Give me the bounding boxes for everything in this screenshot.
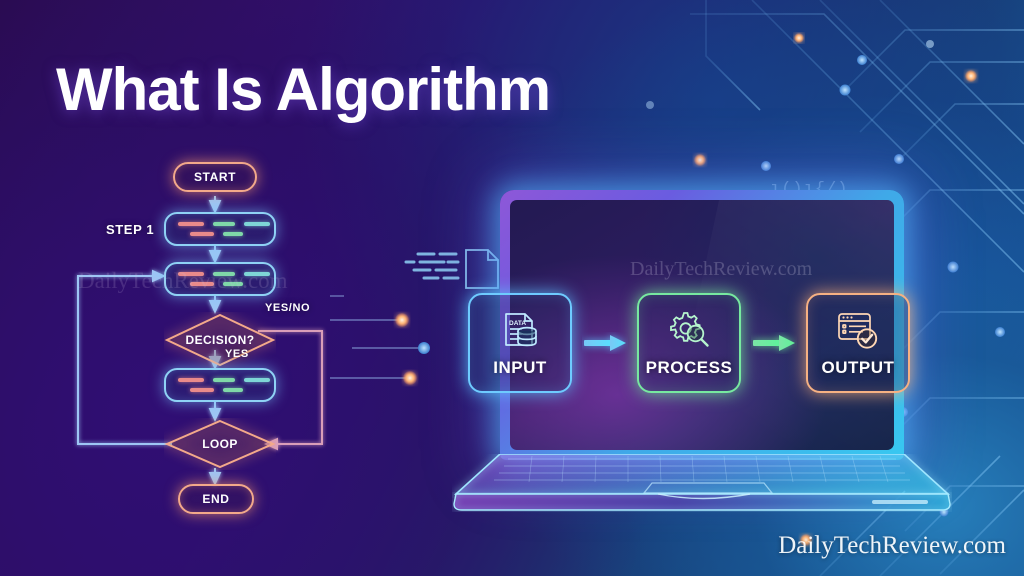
pipeline-card-process[interactable]: PROCESS <box>637 293 741 393</box>
data-icon-text: DATA <box>509 320 526 327</box>
gear-magnifier-icon <box>667 308 711 354</box>
flow-node-process-2[interactable] <box>164 262 276 296</box>
checklist-window-check-icon <box>835 308 881 354</box>
code-lines <box>166 272 274 286</box>
poster-canvas: What Is Algorithm <box>0 0 1024 576</box>
arrow-right-icon <box>582 332 628 354</box>
page-title: What Is Algorithm <box>56 60 550 120</box>
watermark-screen: DailyTechReview.com <box>630 258 812 281</box>
flow-node-decision[interactable]: DECISION? <box>164 312 276 368</box>
code-lines <box>166 222 274 236</box>
arrow-right-icon <box>751 332 797 354</box>
flow-node-end[interactable]: END <box>178 484 254 514</box>
pipeline-card-input[interactable]: DATA INPUT <box>468 293 572 393</box>
code-lines <box>166 378 274 392</box>
pipeline-card-process-label: PROCESS <box>646 358 733 378</box>
pipeline-card-output-label: OUTPUT <box>822 358 895 378</box>
flow-node-loop[interactable]: LOOP <box>164 418 276 470</box>
document-database-icon: DATA <box>498 308 542 354</box>
flowchart: START STEP 1 DECISION? YES/NO <box>60 150 390 525</box>
flow-node-start[interactable]: START <box>173 162 257 192</box>
flow-node-loop-label: LOOP <box>164 418 276 470</box>
pipeline-row: DATA INPUT <box>468 295 910 391</box>
pipeline-card-output[interactable]: OUTPUT <box>806 293 910 393</box>
flow-node-process-3[interactable] <box>164 368 276 402</box>
flow-node-start-label: START <box>194 170 236 184</box>
laptop-base <box>452 454 952 512</box>
flow-branch-yes-label: YES <box>225 348 249 360</box>
flow-node-end-label: END <box>202 492 229 506</box>
watermark-main: DailyTechReview.com <box>778 532 1006 560</box>
flow-node-decision-label: DECISION? <box>164 312 276 368</box>
flow-node-process-1[interactable] <box>164 212 276 246</box>
pipeline-card-input-label: INPUT <box>493 358 547 378</box>
flow-branch-yesno-label: YES/NO <box>265 302 310 314</box>
flow-step-label: STEP 1 <box>106 222 154 237</box>
